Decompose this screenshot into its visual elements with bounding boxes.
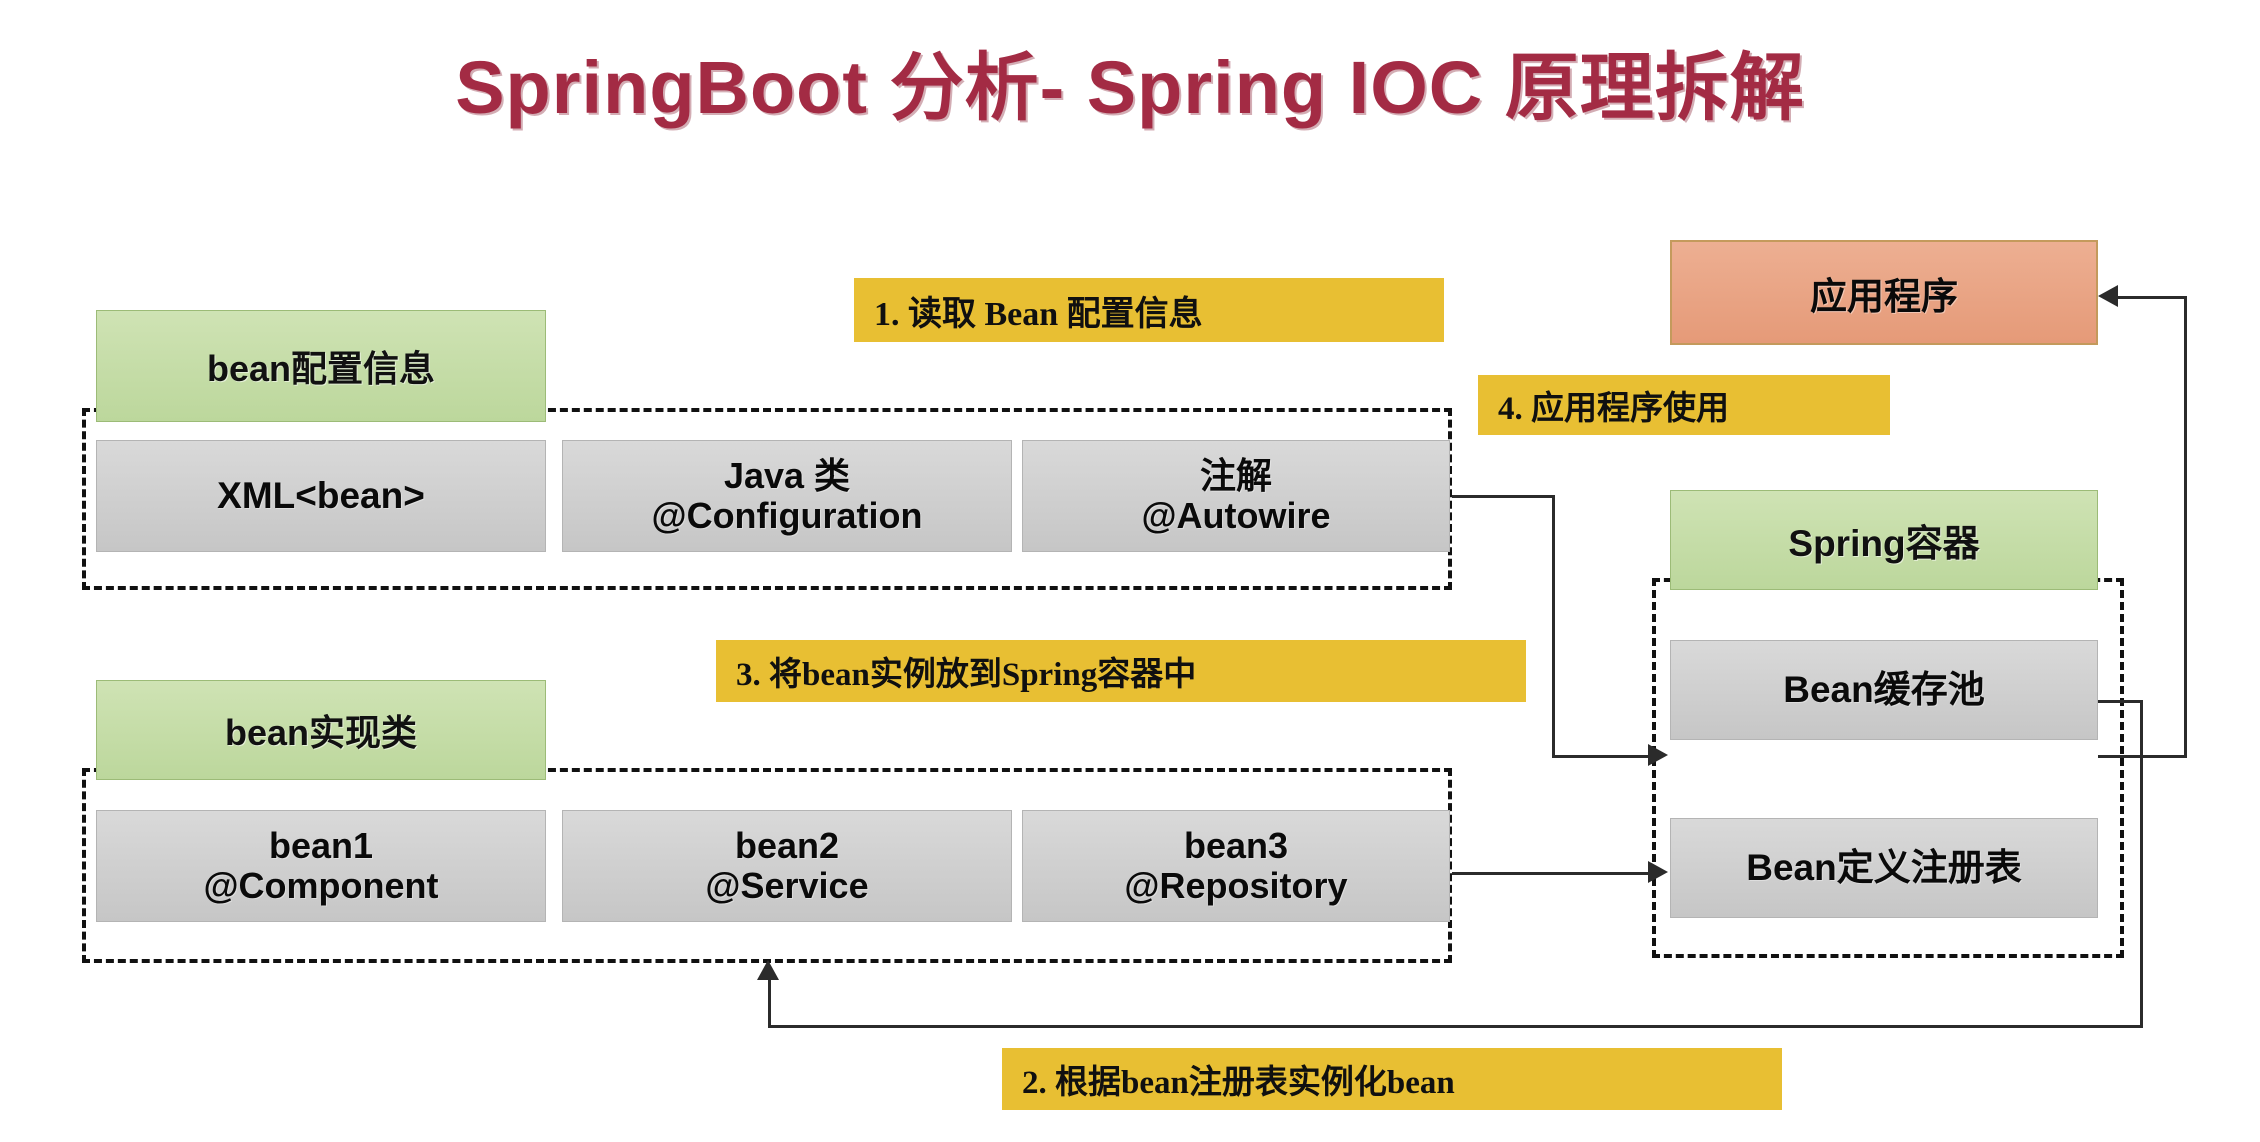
edge-step4-segment-h2 [2118,296,2186,299]
box-bean2-line1: bean2 [705,826,868,866]
page-title: SpringBoot 分析- Spring IOC 原理拆解 [0,28,2260,135]
bean-config-group-header-label: bean配置信息 [207,340,435,392]
edge-step2-arrowhead [757,960,779,980]
box-bean-cache-pool-label: Bean缓存池 [1783,669,1984,710]
box-annotation-line1: 注解 [1141,456,1330,496]
edge-step1-segment-v [1552,495,1555,755]
spring-container-group-header-label: Spring容器 [1788,513,1979,567]
box-java-class-line2: @Configuration [651,496,922,536]
spring-container-group-header: Spring容器 [1670,490,2098,590]
edge-step4-segment-v [2184,296,2187,758]
box-java-class-line1: Java 类 [651,456,922,496]
box-application[interactable]: 应用程序 [1670,240,2098,345]
bean-config-group-header: bean配置信息 [96,310,546,422]
step-label-4: 4. 应用程序使用 [1478,375,1890,435]
step-label-3: 3. 将bean实例放到Spring容器中 [716,640,1526,702]
diagram-canvas: SpringBoot 分析- Spring IOC 原理拆解 1. 读取 Bea… [0,0,2260,1142]
box-application-label: 应用程序 [1810,266,1958,320]
box-bean1-component[interactable]: bean1 @Component [96,810,546,922]
bean-impl-group-header-label: bean实现类 [225,704,417,756]
edge-step1-segment-h2 [1552,755,1650,758]
box-annotation-line2: @Autowire [1141,496,1330,536]
edge-step2-segment-v1 [2140,700,2143,1025]
step-label-2: 2. 根据bean注册表实例化bean [1002,1048,1782,1110]
step-label-1: 1. 读取 Bean 配置信息 [854,278,1444,342]
box-bean1-line2: @Component [203,866,438,906]
box-bean-definition-registry-label: Bean定义注册表 [1746,847,2021,888]
edge-step2-segment-h1 [2098,700,2140,703]
box-bean2-service[interactable]: bean2 @Service [562,810,1012,922]
edge-step1-segment-h1 [1452,495,1552,498]
edge-step4-arrowhead [2098,285,2118,307]
box-bean-cache-pool[interactable]: Bean缓存池 [1670,640,2098,740]
box-xml-bean-label: XML<bean> [217,475,425,516]
box-java-class-configuration[interactable]: Java 类 @Configuration [562,440,1012,552]
box-bean3-line1: bean3 [1124,826,1347,866]
edge-step3-arrowhead [1648,861,1668,883]
box-bean3-repository[interactable]: bean3 @Repository [1022,810,1450,922]
box-xml-bean[interactable]: XML<bean> [96,440,546,552]
box-annotation-autowire[interactable]: 注解 @Autowire [1022,440,1450,552]
edge-step1-arrowhead [1648,744,1668,766]
edge-step3-segment-h [1452,872,1650,875]
box-bean-definition-registry[interactable]: Bean定义注册表 [1670,818,2098,918]
bean-impl-group-header: bean实现类 [96,680,546,780]
box-bean2-line2: @Service [705,866,868,906]
box-bean1-line1: bean1 [203,826,438,866]
edge-step2-segment-h2 [768,1025,2143,1028]
box-bean3-line2: @Repository [1124,866,1347,906]
edge-step2-segment-v2 [768,980,771,1028]
